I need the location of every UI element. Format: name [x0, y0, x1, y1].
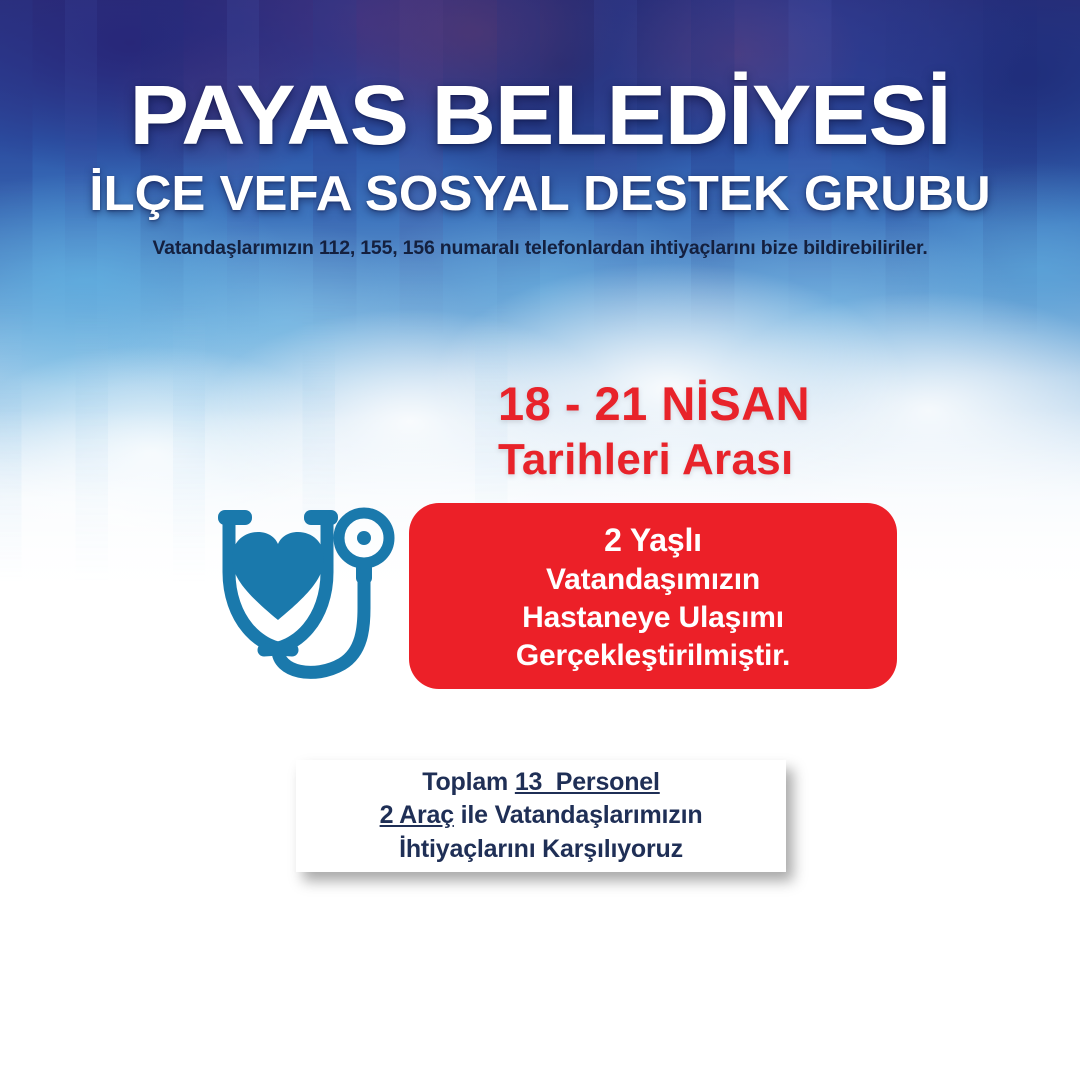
page-subtitle: İLÇE VEFA SOSYAL DESTEK GRUBU	[0, 156, 1080, 219]
status-callout-box: 2 Yaşlı Vatandaşımızın Hastaneye Ulaşımı…	[409, 503, 897, 689]
callout-line-3: Hastaneye Ulaşımı	[522, 599, 784, 637]
stethoscope-heart-icon	[196, 500, 402, 690]
page-title: PAYAS BELEDİYESİ	[0, 0, 1080, 156]
summary-card: Toplam 13 Personel 2 Araç ile Vatandaşla…	[296, 760, 786, 872]
summary-line-2: 2 Araç ile Vatandaşlarımızın	[380, 799, 703, 832]
date-range: 18 - 21 NİSAN	[498, 378, 810, 431]
poster-canvas: PAYAS BELEDİYESİ İLÇE VEFA SOSYAL DESTEK…	[0, 0, 1080, 1080]
summary-vehicle-rest: ile Vatandaşlarımızın	[454, 801, 702, 829]
summary-personnel-prefix: Toplam	[422, 768, 515, 796]
callout-line-4: Gerçekleştirilmiştir.	[516, 637, 790, 675]
date-label: Tarihleri Arası	[498, 431, 810, 484]
summary-vehicle-count: 2 Araç	[380, 801, 454, 829]
summary-personnel-count: 13 Personel	[515, 768, 660, 796]
hotline-note: Vatandaşlarımızın 112, 155, 156 numaralı…	[0, 219, 1080, 260]
callout-lead: 2 Yaşlı	[604, 520, 702, 561]
summary-line-1: Toplam 13 Personel	[422, 766, 660, 799]
summary-line-3: İhtiyaçlarını Karşılıyoruz	[399, 833, 683, 866]
callout-line-2: Vatandaşımızın	[546, 561, 760, 599]
poster-header: PAYAS BELEDİYESİ İLÇE VEFA SOSYAL DESTEK…	[0, 0, 1080, 260]
date-block: 18 - 21 NİSAN Tarihleri Arası	[498, 378, 810, 484]
